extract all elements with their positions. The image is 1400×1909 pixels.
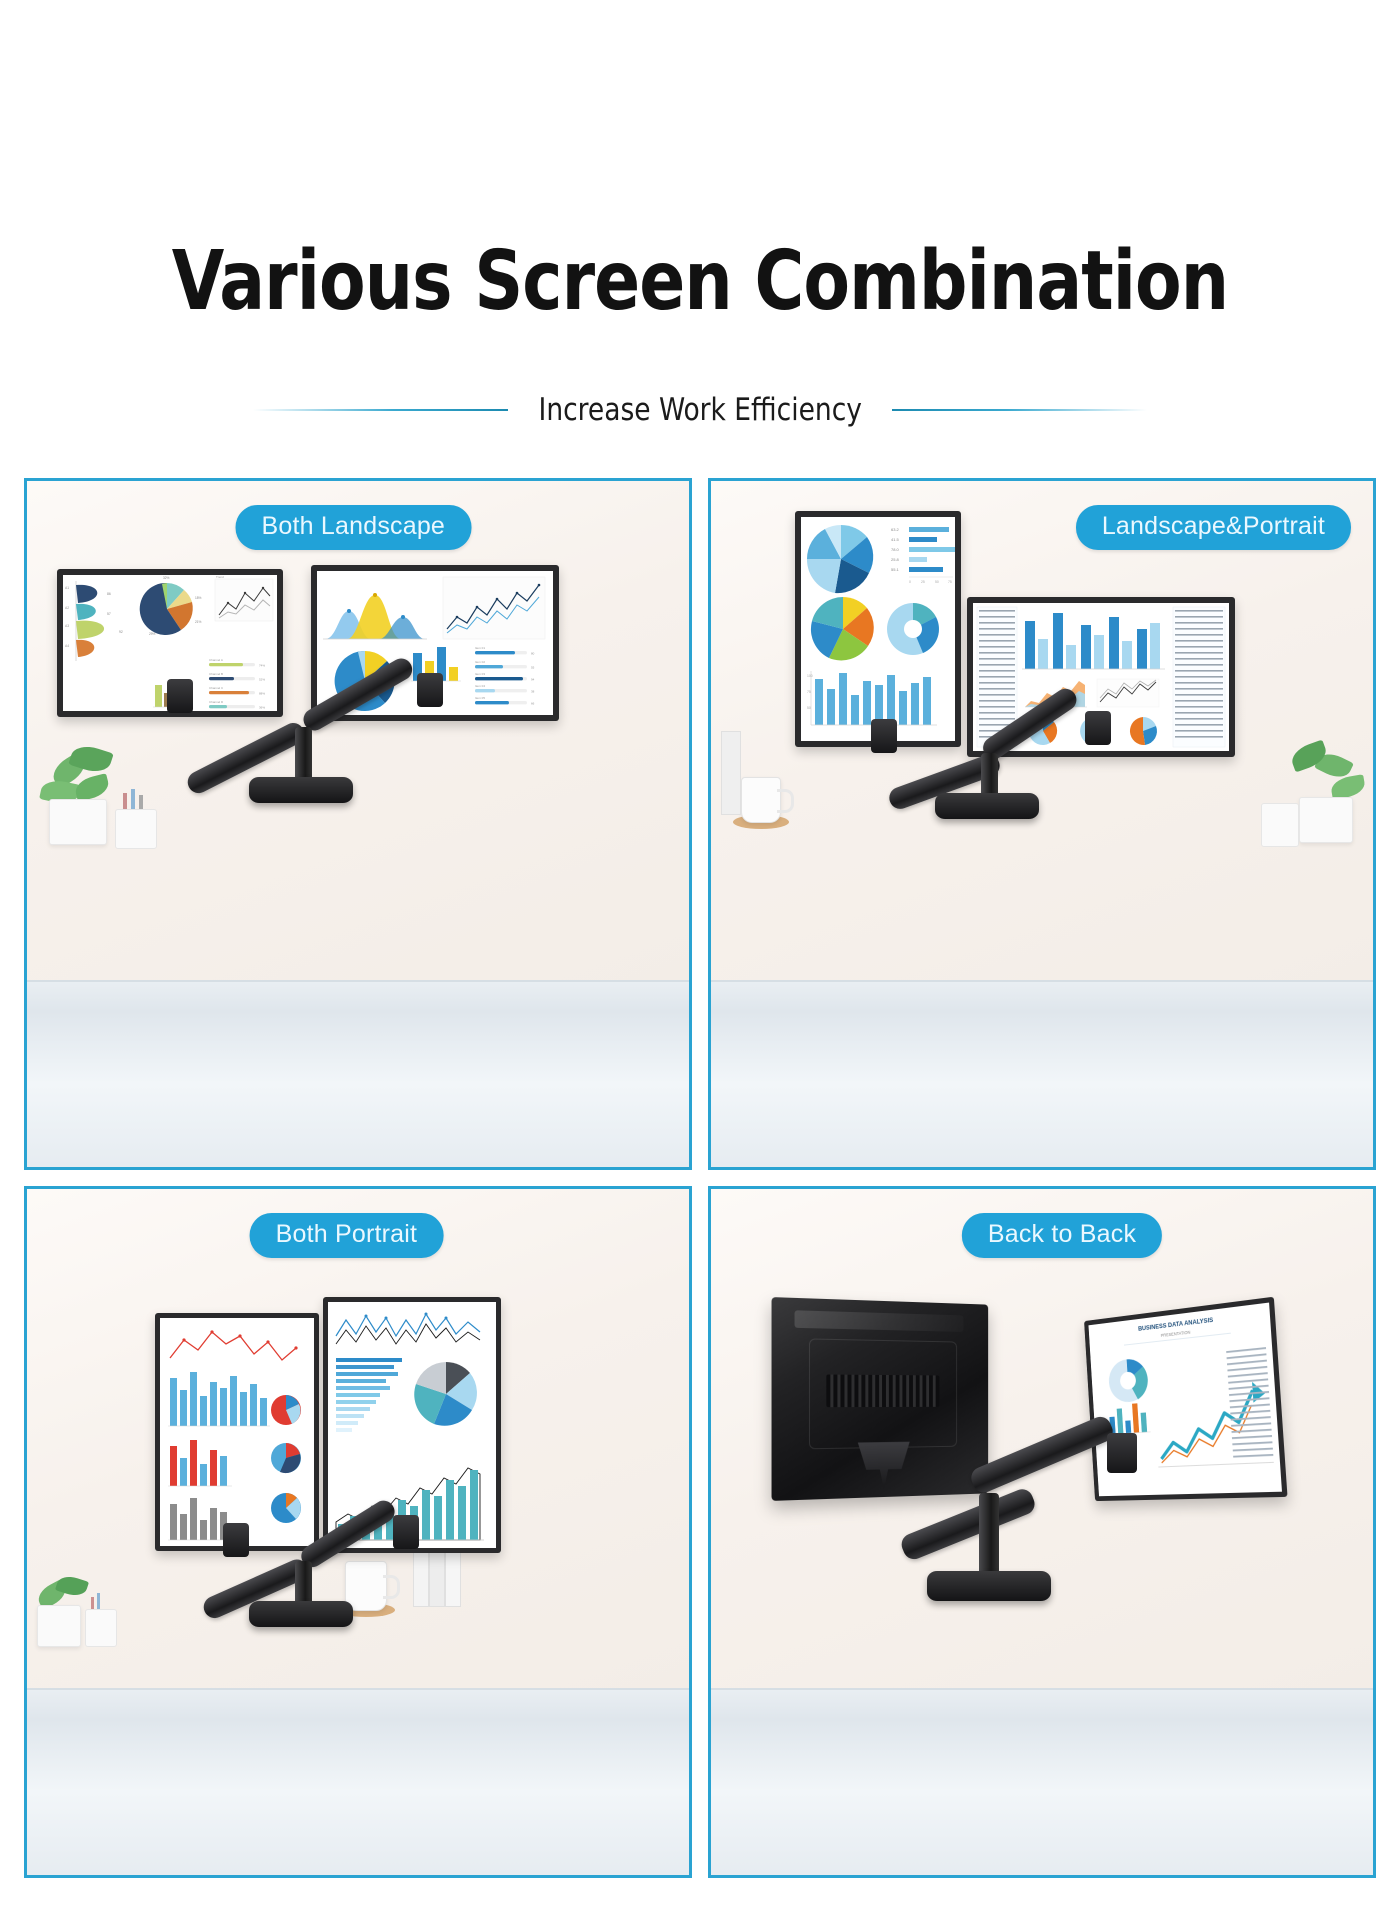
svg-text:Item 02: Item 02 <box>475 660 485 664</box>
panel-back-to-back: Back to Back BUSINESS DATA ANALYSIS PRES… <box>708 1186 1376 1878</box>
monitor-screen <box>328 1302 496 1548</box>
svg-text:Channel A: Channel A <box>209 658 223 662</box>
clamp-base <box>249 1601 353 1627</box>
desk-surface <box>27 980 689 1167</box>
svg-text:36%: 36% <box>259 706 265 710</box>
plant-pot <box>49 799 107 845</box>
svg-text:25: 25 <box>921 580 925 584</box>
page-subtitle: Increase Work Efficiency <box>538 392 861 428</box>
svg-text:86: 86 <box>107 592 111 596</box>
svg-text:Trend: Trend <box>216 575 224 579</box>
mug-handle <box>777 789 794 813</box>
svg-text:100: 100 <box>807 674 813 678</box>
vesa-plate-right <box>393 1515 419 1549</box>
vesa-plate-landscape <box>1085 711 1111 745</box>
coffee-mug <box>741 777 781 823</box>
svg-text:A3: A3 <box>65 624 69 628</box>
mug-handle <box>383 1575 400 1599</box>
monitor-rear-view <box>772 1297 989 1501</box>
desk-surface <box>27 1688 689 1875</box>
dashboard-chart-group: 63.2 41.5 78.0 25.8 55.1 0 <box>801 517 955 741</box>
svg-text:94: 94 <box>531 678 535 682</box>
svg-text:18%: 18% <box>195 596 202 600</box>
pen-holder <box>1261 803 1299 847</box>
svg-text:Channel B: Channel B <box>209 672 223 676</box>
panel-both-landscape: Both Landscape A1 <box>24 478 692 1170</box>
page-title: Various Screen Combination <box>56 0 1344 327</box>
svg-text:Item 01: Item 01 <box>475 646 485 650</box>
svg-text:80: 80 <box>531 652 535 656</box>
pen-holder <box>115 809 157 849</box>
clamp-base <box>927 1571 1051 1601</box>
vesa-plate-portrait <box>871 719 897 753</box>
vesa-plate-left <box>167 679 193 713</box>
svg-text:52%: 52% <box>259 678 265 682</box>
svg-text:66: 66 <box>531 702 535 706</box>
desk-surface <box>711 980 1373 1167</box>
svg-text:63.2: 63.2 <box>891 527 900 532</box>
svg-text:50: 50 <box>807 706 811 710</box>
svg-text:29%: 29% <box>149 632 156 636</box>
svg-text:75: 75 <box>948 580 952 584</box>
svg-text:38: 38 <box>531 690 535 694</box>
svg-text:92: 92 <box>119 630 123 634</box>
svg-text:88%: 88% <box>259 692 265 696</box>
svg-text:78.0: 78.0 <box>891 547 900 552</box>
svg-text:75: 75 <box>807 690 811 694</box>
svg-text:A1: A1 <box>65 586 69 590</box>
slide-subtitle: PRESENTATION <box>1161 1329 1191 1338</box>
svg-text:0: 0 <box>909 580 911 584</box>
monitor-screen <box>160 1318 314 1546</box>
vesa-bracket <box>858 1442 910 1490</box>
wall-background <box>27 481 689 982</box>
plant-pot <box>37 1605 81 1647</box>
svg-text:32%: 32% <box>163 576 170 580</box>
infographic-page: Various Screen Combination Increase Work… <box>0 0 1400 1909</box>
svg-text:25.8: 25.8 <box>891 557 900 562</box>
panel-badge-both-landscape[interactable]: Both Landscape <box>236 505 472 550</box>
vesa-plate-left <box>223 1523 249 1557</box>
svg-text:A2: A2 <box>65 606 69 610</box>
svg-text:21%: 21% <box>195 620 202 624</box>
panel-grid: Both Landscape A1 <box>24 478 1376 1878</box>
panel-badge-both-portrait[interactable]: Both Portrait <box>250 1213 444 1258</box>
panel-landscape-portrait: Landscape&Portrait <box>708 478 1376 1170</box>
header: Various Screen Combination <box>0 0 1400 327</box>
svg-text:50: 50 <box>935 580 939 584</box>
vesa-plate-right <box>417 673 443 707</box>
svg-text:Item 03: Item 03 <box>475 672 485 676</box>
clamp-base <box>935 793 1039 819</box>
divider-right <box>892 409 1147 411</box>
pen-holder <box>85 1609 117 1647</box>
svg-text:Item 05: Item 05 <box>475 696 485 700</box>
svg-text:55.1: 55.1 <box>891 567 900 572</box>
panel-both-portrait: Both Portrait <box>24 1186 692 1878</box>
subtitle-row: Increase Work Efficiency <box>0 392 1400 428</box>
clamp-base <box>249 777 353 803</box>
svg-text:55: 55 <box>531 666 535 670</box>
desk-surface <box>711 1688 1373 1875</box>
svg-text:Channel C: Channel C <box>209 686 224 690</box>
dashboard-chart-group <box>328 1302 496 1548</box>
panel-badge-landscape-portrait[interactable]: Landscape&Portrait <box>1076 505 1351 550</box>
mount-pole <box>979 1493 999 1579</box>
svg-text:57: 57 <box>107 612 111 616</box>
svg-text:Channel D: Channel D <box>209 700 224 704</box>
svg-text:A4: A4 <box>65 644 69 648</box>
svg-text:74%: 74% <box>259 664 265 668</box>
plant-pot <box>1299 797 1353 843</box>
svg-text:Item 04: Item 04 <box>475 684 485 688</box>
rear-vent-grille <box>827 1375 940 1407</box>
vesa-plate-front <box>1107 1433 1137 1473</box>
mount-pole <box>295 727 312 783</box>
svg-text:41.5: 41.5 <box>891 537 900 542</box>
monitor-portrait: 63.2 41.5 78.0 25.8 55.1 0 <box>795 511 961 747</box>
dashboard-chart-group <box>160 1318 314 1546</box>
divider-left <box>253 409 508 411</box>
file-holder <box>721 731 741 815</box>
rear-highlight <box>795 1310 964 1332</box>
monitor-portrait-left <box>155 1313 319 1551</box>
panel-badge-back-to-back[interactable]: Back to Back <box>962 1213 1162 1258</box>
monitor-screen: 63.2 41.5 78.0 25.8 55.1 0 <box>801 517 955 741</box>
coffee-mug <box>345 1561 387 1611</box>
